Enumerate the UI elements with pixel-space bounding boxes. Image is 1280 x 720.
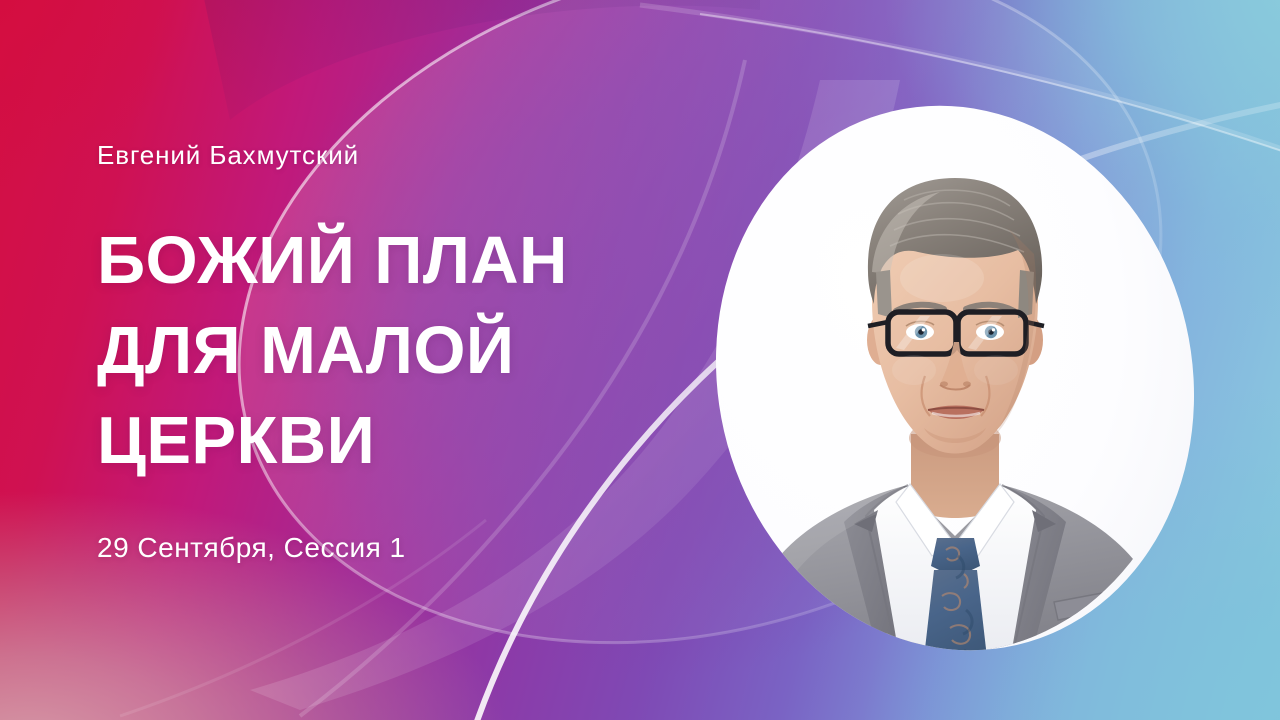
slide-title-line-3: ЦЕРКВИ — [97, 396, 717, 486]
portrait-photo — [718, 104, 1192, 652]
slide-title-line-1: БОЖИЙ ПЛАН — [97, 216, 717, 306]
speaker-name: Евгений Бахмутский — [97, 138, 717, 172]
presentation-slide: Евгений Бахмутский БОЖИЙ ПЛАН ДЛЯ МАЛОЙ … — [0, 0, 1280, 720]
portrait-sideburn-left — [876, 270, 892, 318]
portrait-oval-backdrop — [662, 58, 1247, 699]
speaker-portrait — [718, 104, 1192, 652]
event-date: 29 Сентября, Сессия 1 — [97, 530, 717, 566]
slide-title-line-2: ДЛЯ МАЛОЙ — [97, 306, 717, 396]
slide-title: БОЖИЙ ПЛАН ДЛЯ МАЛОЙ ЦЕРКВИ — [97, 216, 717, 486]
slide-text-block: Евгений Бахмутский БОЖИЙ ПЛАН ДЛЯ МАЛОЙ … — [97, 138, 717, 566]
